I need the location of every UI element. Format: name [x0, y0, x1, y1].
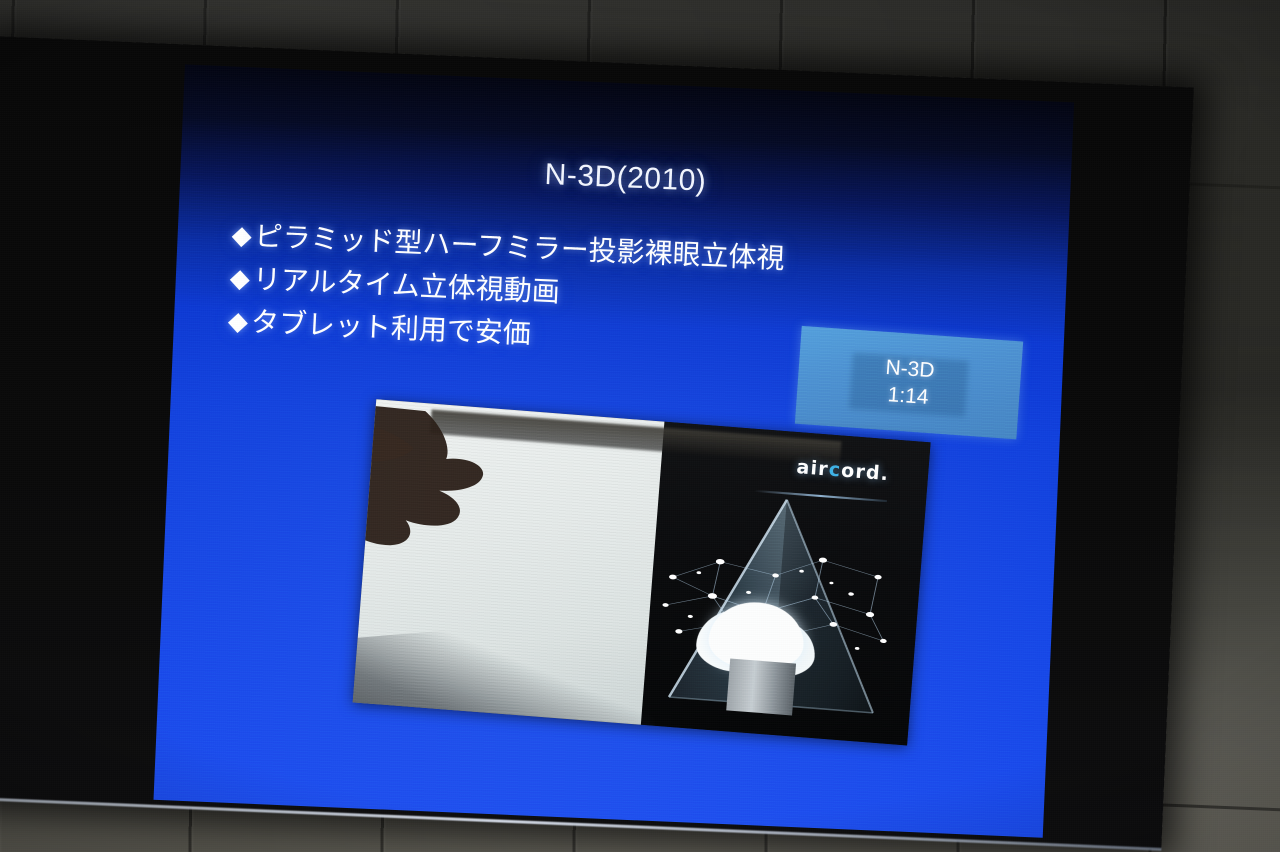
slide-title: N-3D(2010) [180, 142, 1071, 214]
slide-photo: aircord. [353, 399, 931, 745]
video-callout-box[interactable]: N-3D 1:14 [795, 326, 1023, 439]
presentation-slide: N-3D(2010) ◆ ピラミッド型ハーフミラー投影裸眼立体視 ◆ リアルタイ… [154, 64, 1075, 837]
bullet-text: タブレット利用で安価 [250, 304, 531, 354]
diamond-bullet-icon: ◆ [229, 260, 251, 298]
diamond-bullet-icon: ◆ [227, 303, 249, 341]
projection-screen: N-3D(2010) ◆ ピラミッド型ハーフミラー投影裸眼立体視 ◆ リアルタイ… [0, 36, 1194, 849]
pyramid-pedestal [726, 658, 797, 715]
hand-silhouette [353, 403, 570, 620]
bullet-text: リアルタイム立体視動画 [252, 261, 561, 312]
screenshot-root: N-3D(2010) ◆ ピラミッド型ハーフミラー投影裸眼立体視 ◆ リアルタイ… [0, 0, 1280, 852]
callout-duration: 1:14 [887, 381, 930, 411]
logo-part-ir: ir [810, 457, 830, 480]
diamond-bullet-icon: ◆ [231, 217, 253, 255]
photo-shadow-wedge [353, 615, 659, 746]
logo-part-ord: ord. [840, 460, 890, 486]
callout-title: N-3D [885, 354, 936, 385]
